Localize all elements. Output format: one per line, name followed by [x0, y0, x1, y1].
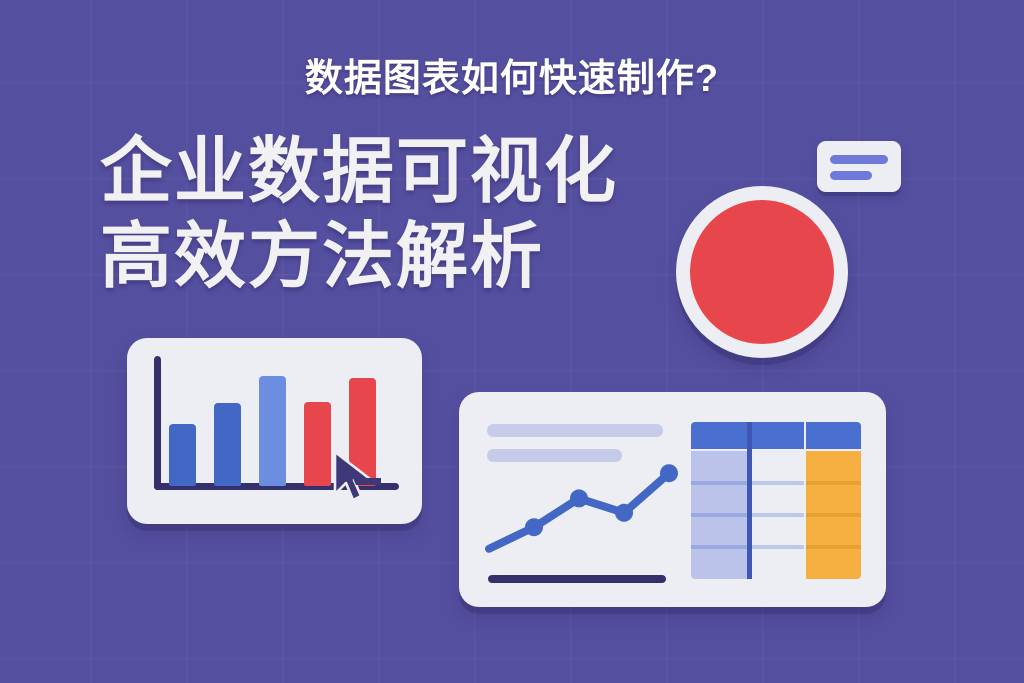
- line-chart-points: [525, 464, 678, 536]
- note-card: [817, 141, 901, 192]
- data-table: [691, 422, 861, 579]
- line-chart-point: [570, 489, 588, 507]
- data-table-header-cell: [749, 422, 804, 449]
- dashboard-card: [459, 392, 886, 607]
- data-table-header: [691, 422, 861, 449]
- data-table-body: [691, 451, 861, 579]
- note-line-long: [830, 155, 888, 164]
- data-table-header-cell: [691, 422, 747, 449]
- pie-chart: [676, 186, 848, 358]
- bar-chart-card: [127, 338, 422, 524]
- line-chart-point: [525, 518, 543, 536]
- poster-canvas: 数据图表如何快速制作? 企业数据可视化 高效方法解析: [0, 0, 1024, 683]
- data-table-column-1: [691, 451, 747, 579]
- note-line-short: [830, 171, 872, 180]
- line-chart: [479, 456, 679, 566]
- poster-title-line-2: 高效方法解析: [100, 215, 720, 300]
- data-table-column-3: [806, 451, 861, 579]
- data-table-header-cell: [806, 422, 861, 449]
- poster-title-line-1: 企业数据可视化: [100, 130, 720, 215]
- data-table-column-2: [749, 451, 804, 579]
- data-table-divider: [747, 422, 752, 579]
- poster-title: 企业数据可视化 高效方法解析: [100, 130, 720, 300]
- pie-chart-slices: [690, 200, 834, 344]
- line-chart-point: [615, 504, 633, 522]
- poster-subtitle: 数据图表如何快速制作?: [0, 60, 1024, 98]
- placeholder-line-1: [487, 424, 663, 437]
- bar-chart-bar: [214, 403, 241, 486]
- line-chart-point: [660, 464, 678, 482]
- mouse-pointer-icon: [329, 448, 387, 506]
- bar-chart-bar: [304, 402, 331, 486]
- bar-chart-y-axis: [154, 356, 161, 490]
- dashboard-baseline: [488, 575, 666, 583]
- bar-chart-bar: [169, 424, 196, 486]
- bar-chart-bar: [259, 376, 286, 486]
